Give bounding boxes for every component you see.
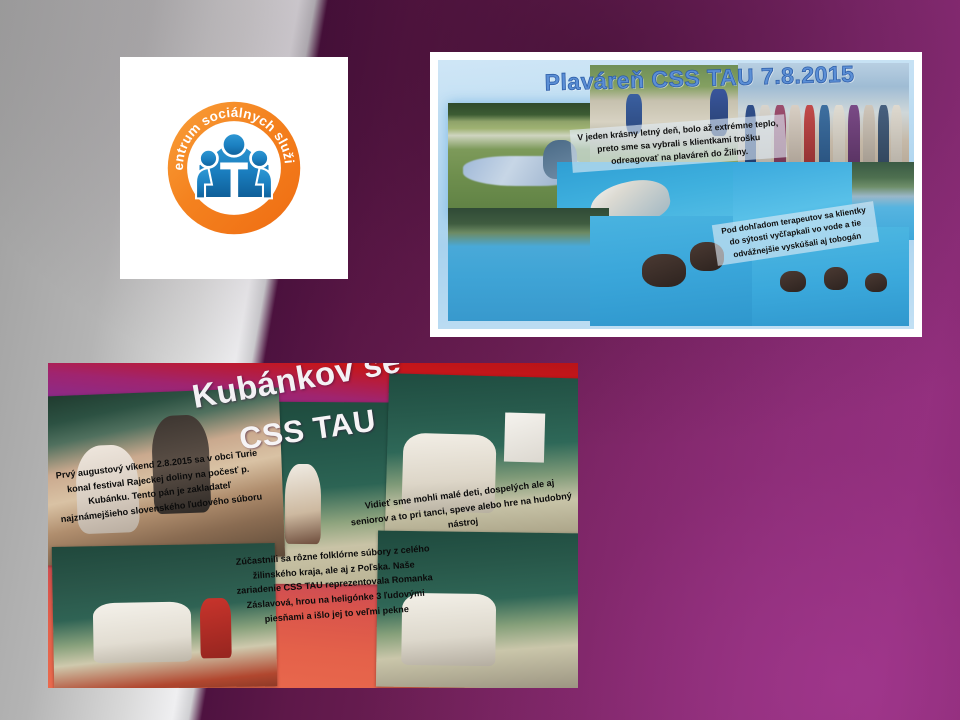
logo-icon: Centrum sociálnych služieb TAU Turie bbox=[165, 99, 303, 237]
logo-card: Centrum sociálnych služieb TAU Turie bbox=[120, 57, 348, 279]
folk-festival-collage-image: Kubánkov se CSS TAU Prvý augustový víken… bbox=[48, 363, 578, 688]
folk-collage-canvas: Kubánkov se CSS TAU Prvý augustový víken… bbox=[48, 363, 578, 688]
pool-collage-image: Plaváreň CSS TAU 7.8.2015 V jeden krásny… bbox=[430, 52, 922, 337]
open-air-lake-photo bbox=[448, 208, 610, 321]
presentation-slide: Centrum sociálnych služieb TAU Turie bbox=[0, 0, 960, 720]
folk-caption-ensembles: Zúčastnili sa rôzne folklórne súbory z c… bbox=[231, 541, 437, 628]
pool-collage-canvas: Plaváreň CSS TAU 7.8.2015 V jeden krásny… bbox=[438, 60, 914, 329]
css-tau-turie-logo: Centrum sociálnych služieb TAU Turie bbox=[165, 99, 303, 237]
